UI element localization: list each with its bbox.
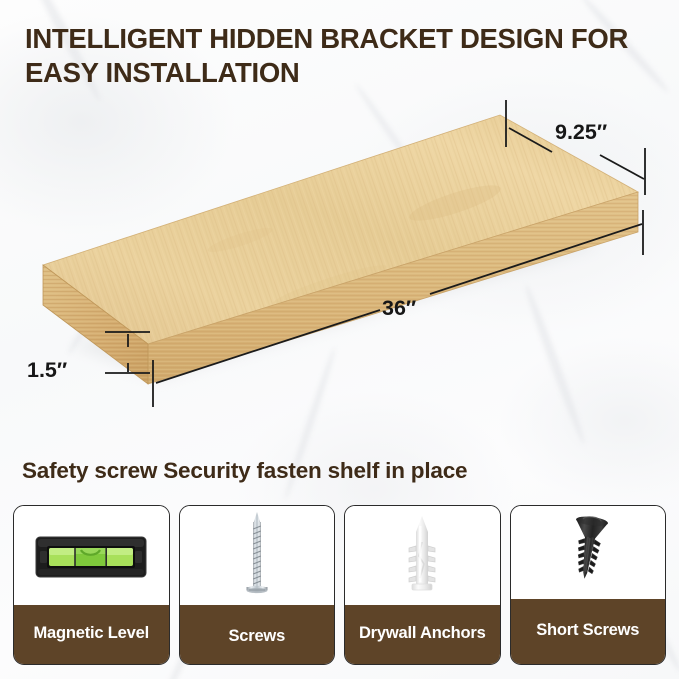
accessory-card-magnetic-level[interactable]: Magnetic Level [13, 505, 170, 665]
dimension-thickness-label: 1.5″ [27, 358, 67, 382]
card-label-screws: Screws [180, 605, 335, 665]
dimension-length-label: 36″ [382, 296, 416, 320]
card-icon-area [180, 506, 335, 605]
card-label-drywall-anchors: Drywall Anchors [345, 605, 500, 664]
drywall-anchor-icon [397, 512, 447, 602]
accessory-card-drywall-anchors[interactable]: Drywall Anchors [344, 505, 501, 665]
long-screw-icon [236, 509, 278, 605]
product-infographic: INTELLIGENT HIDDEN BRACKET DESIGN FOR EA… [0, 0, 679, 679]
dimension-depth-label: 9.25″ [555, 120, 607, 144]
short-screw-icon [560, 511, 616, 597]
page-title: INTELLIGENT HIDDEN BRACKET DESIGN FOR EA… [25, 22, 665, 89]
card-icon-area [345, 506, 500, 605]
section-title: Safety screw Security fasten shelf in pl… [22, 458, 467, 484]
card-label-short-screws: Short Screws [511, 599, 666, 664]
shelf-illustration: 9.25″ 36″ 1.5″ [0, 95, 679, 415]
card-label-magnetic-level: Magnetic Level [14, 605, 169, 664]
card-icon-area [511, 506, 666, 599]
magnetic-level-icon [35, 533, 147, 581]
accessory-card-screws[interactable]: Screws [179, 505, 336, 665]
card-icon-area [14, 506, 169, 605]
accessories-card-row: Magnetic Level [13, 505, 666, 665]
accessory-card-short-screws[interactable]: Short Screws [510, 505, 667, 665]
